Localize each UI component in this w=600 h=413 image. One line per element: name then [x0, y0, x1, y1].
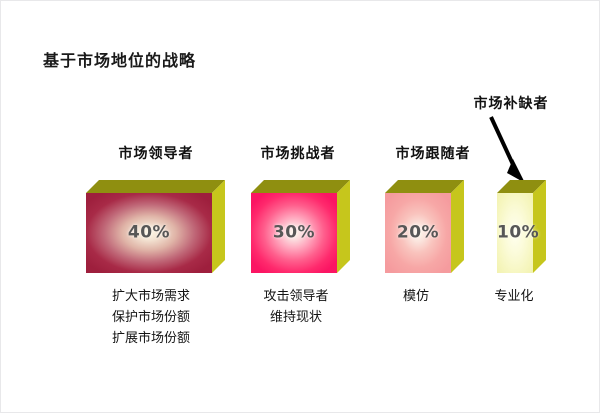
bar-market-challenger[interactable]: 30% [251, 193, 337, 273]
description-market-challenger: 攻击领导者 维持现状 [263, 286, 328, 328]
bar-value-label-market-follower: 20% [385, 223, 451, 243]
category-label-market-challenger: 市场挑战者 [261, 143, 336, 163]
bar-side-face [212, 180, 225, 273]
bar-side-face [451, 180, 464, 273]
description-market-follower: 模仿 [403, 286, 429, 307]
description-line: 攻击领导者 [263, 286, 328, 307]
description-line: 维持现状 [263, 307, 328, 328]
bar-top-face [251, 180, 350, 193]
bar-side-face [337, 180, 350, 273]
description-line: 扩展市场份额 [112, 328, 190, 349]
description-line: 保护市场份额 [112, 307, 190, 328]
description-line: 扩大市场需求 [112, 286, 190, 307]
description-market-leader: 扩大市场需求 保护市场份额 扩展市场份额 [112, 286, 190, 349]
bar-value-label-market-challenger: 30% [251, 223, 337, 243]
bar-top-face [86, 180, 225, 193]
category-label-market-leader: 市场领导者 [119, 143, 194, 163]
bar-market-nicher[interactable]: 10% [497, 193, 533, 273]
description-line: 模仿 [403, 286, 429, 307]
page-title: 基于市场地位的战略 [43, 47, 196, 71]
description-market-nicher: 专业化 [494, 286, 533, 307]
description-line: 专业化 [494, 286, 533, 307]
arrow-down-right-icon [483, 111, 543, 191]
callout-label-market-nicher: 市场补缺者 [474, 93, 549, 113]
bar-value-label-market-leader: 40% [86, 223, 212, 243]
bar-value-label-market-nicher: 10% [497, 223, 533, 243]
slide-canvas: 基于市场地位的战略 市场领导者 市场挑战者 市场跟随者 市场补缺者 40% 30… [0, 0, 600, 413]
category-label-market-follower: 市场跟随者 [396, 143, 471, 163]
bar-market-leader[interactable]: 40% [86, 193, 212, 273]
bar-market-follower[interactable]: 20% [385, 193, 451, 273]
